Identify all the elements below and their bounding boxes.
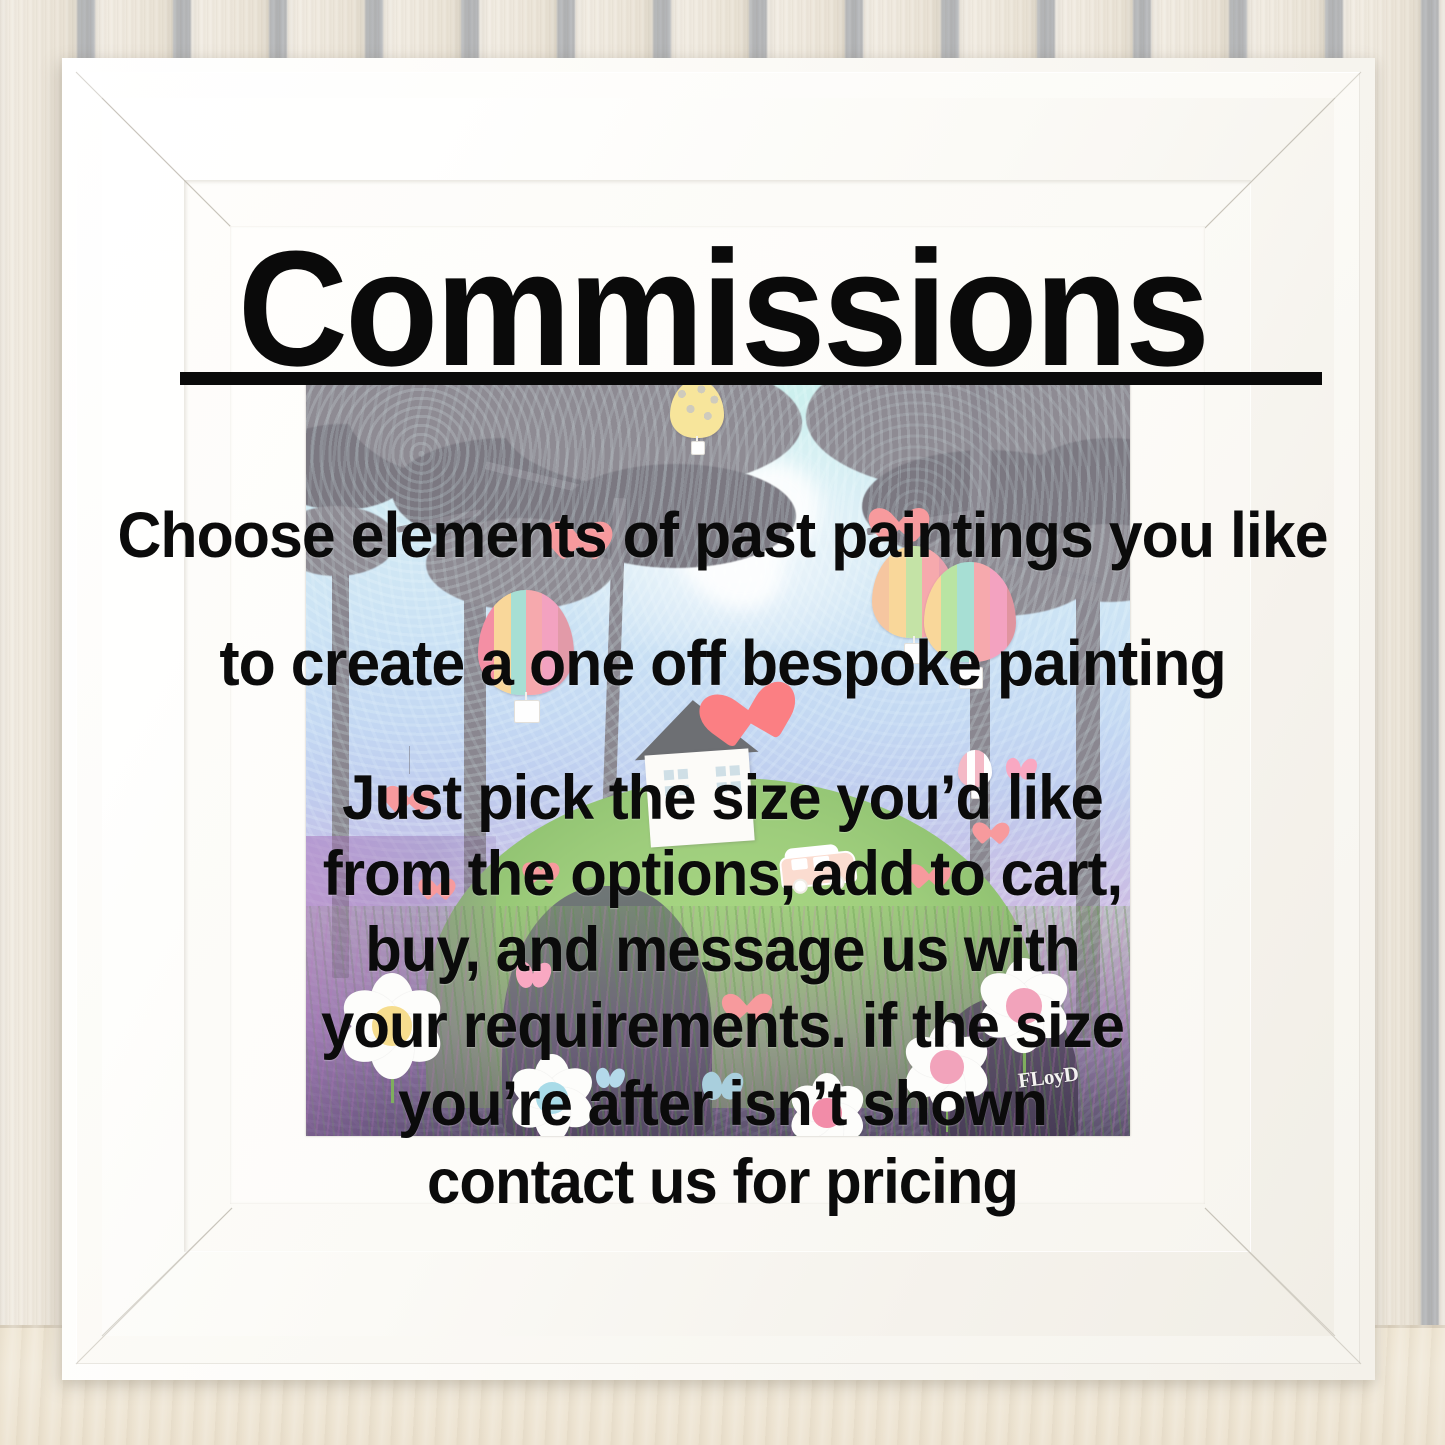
- balloon-basket: [691, 441, 706, 455]
- house-window: [664, 770, 675, 781]
- balloon-yellow-dotted: [670, 380, 724, 454]
- balloon-envelope: [924, 562, 1016, 662]
- daisy-centre: [1006, 988, 1041, 1023]
- balloon-envelope: [670, 380, 724, 438]
- hanging-heart: [424, 870, 450, 892]
- butterfly-blue: [702, 1072, 742, 1100]
- camper-van: [778, 842, 854, 893]
- balloon-basket: [959, 667, 983, 689]
- house-window: [731, 781, 742, 792]
- house-window: [715, 766, 726, 777]
- floating-heart: [528, 854, 554, 876]
- floating-heart: [730, 982, 764, 1012]
- daisy-flower: [784, 1070, 870, 1136]
- balloon-basket: [904, 643, 926, 664]
- van-window: [813, 856, 830, 869]
- butterfly-pink: [516, 962, 550, 988]
- balloon-envelope: [958, 750, 992, 787]
- butterfly-blue: [596, 1068, 624, 1088]
- balloon-striped-left: [478, 590, 574, 724]
- house-wall: [645, 748, 755, 847]
- balloon-striped-right-a: [924, 562, 1016, 690]
- floating-heart: [914, 854, 944, 880]
- daisy-centre: [930, 1050, 963, 1083]
- house-window: [665, 786, 676, 797]
- balloon-small-far-right: [958, 750, 992, 798]
- daisy-flower: [504, 1050, 600, 1136]
- van-window: [791, 858, 808, 871]
- daisy-centre: [372, 1006, 411, 1045]
- artwork-canvas: FLoyD: [306, 378, 1130, 1136]
- house-window: [729, 765, 740, 776]
- daisy-flower: [334, 968, 450, 1084]
- house-window: [678, 769, 689, 780]
- hanging-heart: [392, 774, 426, 804]
- daisy-flower: [972, 954, 1076, 1058]
- floating-heart: [978, 814, 1004, 836]
- butterfly-pink: [1006, 758, 1036, 780]
- hanging-heart: [878, 494, 920, 530]
- balloon-envelope: [478, 590, 574, 695]
- balloon-basket: [971, 789, 981, 799]
- house-window: [679, 785, 690, 796]
- balloon-basket: [514, 700, 539, 723]
- hanging-heart: [556, 506, 602, 546]
- floating-heart-large: [707, 660, 784, 730]
- daisy-centre: [812, 1098, 841, 1127]
- house-window: [717, 782, 728, 793]
